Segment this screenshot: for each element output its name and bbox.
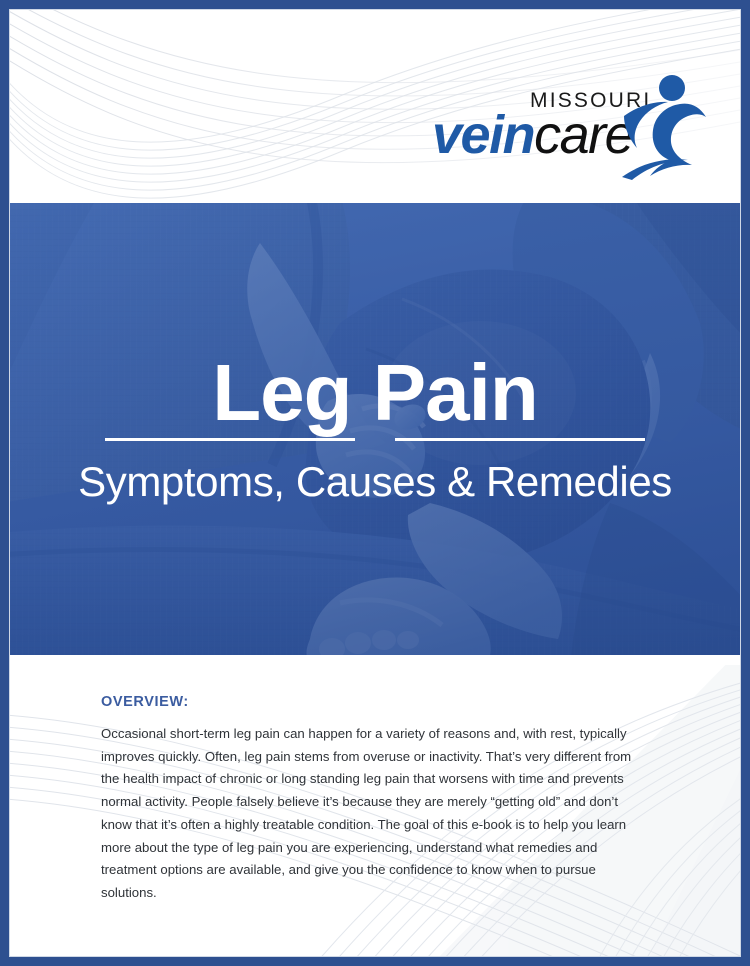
overview-section: OVERVIEW: Occasional short-term leg pain…	[101, 694, 641, 905]
page-title: Leg Pain	[212, 355, 537, 432]
title-divider-left	[105, 438, 355, 441]
logo-word-vein: vein	[432, 105, 534, 165]
hero-text-block: Leg Pain Symptoms, Causes & Remedies	[10, 203, 740, 655]
hero-banner: Leg Pain Symptoms, Causes & Remedies	[10, 203, 740, 655]
running-person-icon	[622, 72, 708, 184]
overview-heading: OVERVIEW:	[101, 694, 641, 710]
brand-logo: MISSOURI veincare	[432, 72, 702, 184]
title-divider-right	[395, 438, 645, 441]
ebook-cover-page: MISSOURI veincare	[0, 0, 750, 966]
logo-wordmark: veincare	[432, 108, 633, 162]
logo-word-care: care	[534, 105, 633, 165]
title-divider	[105, 438, 645, 441]
page-subtitle: Symptoms, Causes & Remedies	[78, 459, 672, 505]
page-header: MISSOURI veincare	[10, 10, 740, 203]
overview-body-text: Occasional short-term leg pain can happe…	[101, 723, 641, 905]
